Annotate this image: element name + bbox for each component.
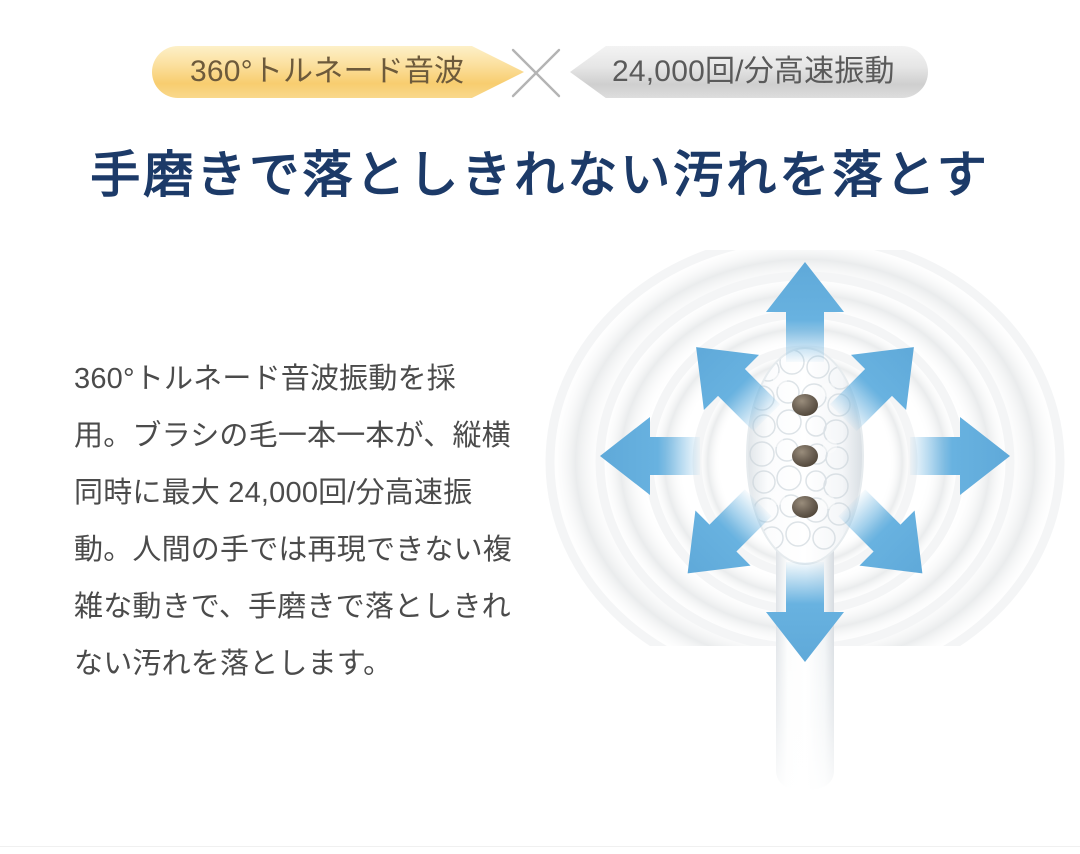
badge-vibration-rate: 24,000回/分高速振動: [570, 46, 928, 98]
toothbrush-head: [747, 348, 863, 564]
feature-description: 360°トルネード音波振動を採用。ブラシの毛一本一本が、縦横同時に最大 24,0…: [74, 351, 514, 693]
badge-tornado-sonic-label: 360°トルネード音波: [190, 57, 464, 87]
badge-tornado-sonic: 360°トルネード音波: [152, 46, 524, 98]
bristle-anchor-dots: [792, 394, 818, 518]
bottom-divider: [0, 846, 1080, 847]
badge-vibration-rate-label: 24,000回/分高速振動: [612, 57, 895, 87]
feature-badge-row: 360°トルネード音波 24,000回/分高速振動: [0, 46, 1080, 102]
toothbrush-head-vibration-diagram: [540, 250, 1080, 820]
page-headline: 手磨きで落としきれない汚れを落とす: [0, 146, 1080, 205]
multiply-cross-icon: [505, 42, 567, 104]
promo-page: 360°トルネード音波 24,000回/分高速振動 手磨きで落としきれない汚れを…: [0, 0, 1080, 854]
